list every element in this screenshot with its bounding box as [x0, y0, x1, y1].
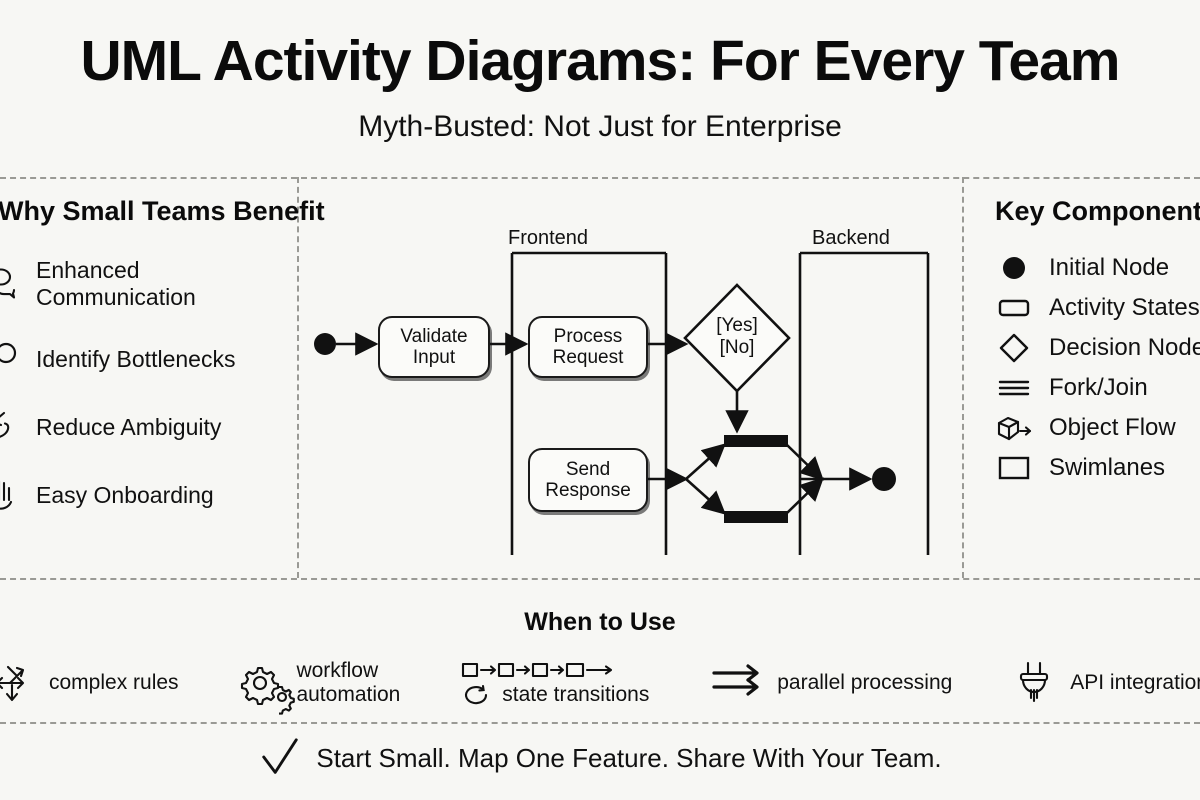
- key-component-label: Initial Node: [1049, 254, 1169, 282]
- divider-left-panel: [297, 177, 299, 578]
- right-panel: Key Components Initial Node Activity Sta…: [995, 196, 1200, 483]
- left-panel-heading: Why Small Teams Benefit: [0, 196, 297, 227]
- final-node: [872, 467, 896, 491]
- double-arrow-icon: [710, 657, 766, 709]
- swimlane-title-frontend: Frontend: [508, 227, 588, 250]
- key-component-swimlanes: Swimlanes: [995, 453, 1200, 483]
- speech-bubble-icon: [0, 264, 22, 304]
- fork-join-icon: [995, 373, 1033, 403]
- use-case-api-integration: API integration: [1013, 657, 1200, 709]
- benefit-item-enhanced-communication: Enhanced Communication: [0, 257, 297, 311]
- divider-middle: [0, 578, 1200, 580]
- page-subtitle: Myth-Busted: Not Just for Enterprise: [0, 110, 1200, 144]
- use-case-workflow-automation: workflow automation: [239, 657, 400, 709]
- use-case-label: workflow automation: [296, 659, 400, 706]
- divider-top: [0, 177, 1200, 179]
- when-to-use-heading: When to Use: [0, 608, 1200, 637]
- flow-join-lower: [787, 479, 822, 513]
- object-flow-icon: [995, 413, 1033, 443]
- key-component-label: Fork/Join: [1049, 374, 1148, 402]
- infographic-page: UML Activity Diagrams: For Every Team My…: [0, 0, 1200, 800]
- page-title: UML Activity Diagrams: For Every Team: [0, 32, 1200, 92]
- initial-node: [314, 333, 336, 355]
- state-chain-group: state transitions: [461, 659, 649, 707]
- benefit-item-easy-onboarding: Easy Onboarding: [0, 475, 297, 515]
- state-chain-icon: [461, 659, 641, 681]
- swimlane-icon: [995, 453, 1033, 483]
- benefit-item-identify-bottlenecks: Identify Bottlenecks: [0, 339, 297, 379]
- key-component-label: Activity States: [1049, 294, 1200, 322]
- benefit-label: Reduce Ambiguity: [36, 414, 221, 441]
- checkmark-icon: [258, 736, 302, 780]
- right-panel-heading: Key Components: [995, 196, 1200, 227]
- footer-tagline: Start Small. Map One Feature. Share With…: [316, 743, 941, 774]
- benefit-label: Identify Bottlenecks: [36, 346, 235, 373]
- use-case-label: complex rules: [49, 671, 179, 695]
- pointing-hand-icon: [0, 407, 22, 447]
- swimlane-title-backend: Backend: [812, 227, 890, 250]
- activity-node-label: Send Response: [545, 459, 631, 502]
- power-plug-icon: [1013, 657, 1059, 709]
- activity-node-process-request: Process Request: [528, 316, 648, 378]
- use-case-complex-rules: complex rules: [0, 657, 179, 709]
- flow-fork-upper: [686, 445, 724, 479]
- decision-guard-labels: [Yes] [No]: [685, 315, 789, 359]
- divider-bottom: [0, 722, 1200, 724]
- waving-hand-icon: [0, 475, 22, 515]
- activity-node-label: Validate Input: [400, 326, 467, 369]
- branching-arrows-icon: [0, 657, 38, 709]
- join-bar: [724, 511, 788, 523]
- benefit-label: Enhanced Communication: [36, 257, 196, 311]
- use-case-state-transitions: state transitions: [461, 659, 649, 707]
- use-case-parallel-processing: parallel processing: [710, 657, 952, 709]
- key-component-initial-node: Initial Node: [995, 253, 1200, 283]
- gears-icon: [239, 657, 285, 709]
- benefit-item-reduce-ambiguity: Reduce Ambiguity: [0, 407, 297, 447]
- activity-state-icon: [995, 293, 1033, 323]
- decision-node-icon: [995, 333, 1033, 363]
- activity-node-send-response: Send Response: [528, 448, 648, 512]
- initial-node-icon: [995, 253, 1033, 283]
- key-component-fork-join: Fork/Join: [995, 373, 1200, 403]
- magnifier-icon: [0, 339, 22, 379]
- key-component-activity-states: Activity States: [995, 293, 1200, 323]
- flow-fork-lower: [686, 479, 724, 513]
- divider-right-panel: [962, 177, 964, 578]
- key-component-decision-nodes: Decision Nodes: [995, 333, 1200, 363]
- footer-callout: Start Small. Map One Feature. Share With…: [0, 736, 1200, 780]
- use-case-label: state transitions: [502, 683, 649, 707]
- key-component-label: Decision Nodes: [1049, 334, 1200, 362]
- key-component-label: Swimlanes: [1049, 454, 1165, 482]
- key-component-label: Object Flow: [1049, 414, 1176, 442]
- key-component-object-flow: Object Flow: [995, 413, 1200, 443]
- when-to-use-list: complex rules workflow automation: [0, 648, 1200, 718]
- activity-node-label: Process Request: [553, 326, 624, 369]
- use-case-label: API integration: [1070, 671, 1200, 695]
- activity-node-validate-input: Validate Input: [378, 316, 490, 378]
- flow-join-upper: [787, 445, 822, 479]
- activity-diagram: Frontend Backend: [300, 183, 960, 575]
- left-panel: Why Small Teams Benefit Enhanced Communi…: [0, 196, 297, 515]
- fork-bar: [724, 435, 788, 447]
- benefit-label: Easy Onboarding: [36, 482, 214, 509]
- use-case-label: parallel processing: [777, 671, 952, 695]
- circular-arrow-icon: [461, 684, 491, 706]
